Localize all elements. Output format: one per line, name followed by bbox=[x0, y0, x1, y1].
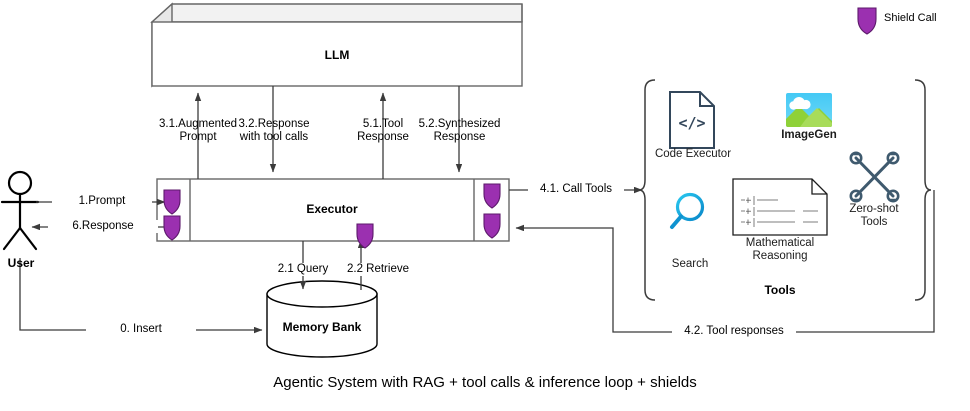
tool-label-code-executor: Code Executor bbox=[645, 148, 741, 161]
memory-bank-label: Memory Bank bbox=[267, 320, 377, 334]
svg-text:</>: </> bbox=[678, 114, 705, 132]
imagegen-icon bbox=[786, 93, 832, 127]
tool-label-math-a: Mathematical bbox=[730, 237, 830, 250]
tool-label-zeroshot-a: Zero-shot bbox=[835, 203, 913, 216]
shield-exec-in-prompt-icon bbox=[164, 190, 180, 214]
tool-label-math-b: Reasoning bbox=[730, 250, 830, 263]
user-actor bbox=[2, 172, 38, 249]
legend-shield-label: Shield Call bbox=[884, 12, 937, 24]
shield-exec-out-toolresp-icon bbox=[484, 214, 500, 238]
edge-label-5-2-b: Response bbox=[403, 131, 516, 144]
edge-label-4-1-calltools: 4.1. Call Tools bbox=[528, 183, 624, 196]
user-label: User bbox=[0, 256, 42, 270]
search-icon bbox=[672, 195, 703, 228]
edge-label-4-2-toolresponses: 4.2. Tool responses bbox=[672, 325, 796, 338]
edge-label-6-response: 6.Response bbox=[48, 220, 158, 233]
shield-legend-icon bbox=[858, 8, 876, 34]
edge-label-5-2-a: 5.2.Synthesized bbox=[403, 118, 516, 131]
crossed-wrenches-icon bbox=[851, 153, 898, 201]
tool-label-imagegen: ImageGen bbox=[769, 129, 849, 142]
shield-exec-out-calltools-icon bbox=[484, 184, 500, 208]
tools-brace-right bbox=[915, 80, 931, 300]
edge-0-insert-line bbox=[20, 258, 262, 330]
edge-label-0-insert: 0. Insert bbox=[86, 323, 196, 336]
tool-label-zeroshot-b: Tools bbox=[835, 216, 913, 229]
diagram-caption: Agentic System with RAG + tool calls & i… bbox=[0, 374, 970, 391]
executor-label: Executor bbox=[190, 202, 474, 216]
llm-label: LLM bbox=[152, 48, 522, 62]
edge-label-3-2-b: with tool calls bbox=[218, 131, 330, 144]
shield-exec-memory-icon bbox=[357, 224, 373, 248]
llm-node bbox=[152, 4, 522, 86]
edge-label-2-2-retrieve: 2.2 Retrieve bbox=[333, 263, 423, 276]
tools-group-label: Tools bbox=[735, 283, 825, 297]
code-executor-icon: </> bbox=[670, 92, 714, 148]
tools-brace-left bbox=[639, 80, 655, 300]
math-reasoning-icon bbox=[733, 179, 827, 235]
tool-label-search: Search bbox=[655, 258, 725, 271]
memory-bank-node bbox=[267, 281, 377, 357]
edge-label-3-2-a: 3.2.Response bbox=[218, 118, 330, 131]
edge-label-2-1-query: 2.1 Query bbox=[263, 263, 343, 276]
edge-label-1-prompt: 1.Prompt bbox=[52, 195, 152, 208]
shield-exec-in-response-icon bbox=[164, 216, 180, 240]
